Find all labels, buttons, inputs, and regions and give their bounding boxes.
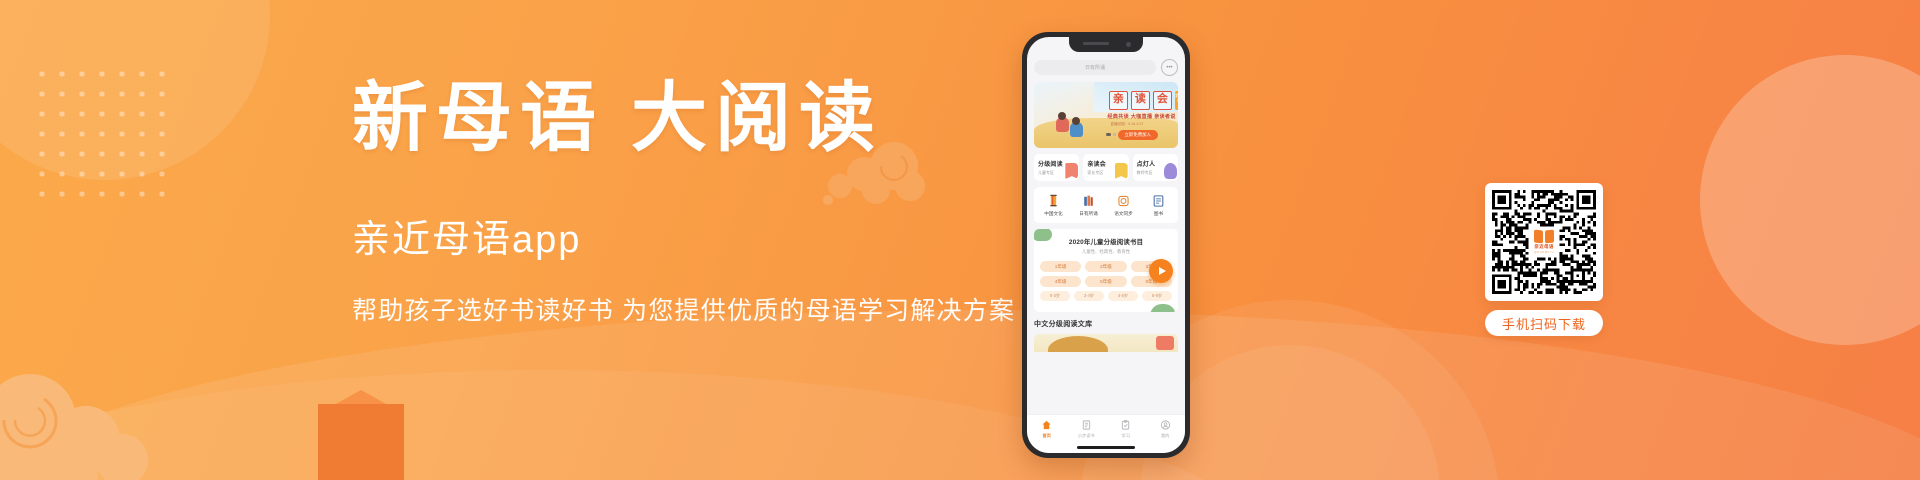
page-title: 新母语 大阅读 <box>352 80 1032 160</box>
banner-tagline: 帮助孩子选好书读好书 为您提供优质的母语学习解决方案 <box>352 291 1032 327</box>
play-icon[interactable] <box>1149 259 1173 283</box>
decorative-dot-grid <box>30 62 170 202</box>
decorative-circle-top-right <box>1700 55 1920 345</box>
quick-entry-label: 图书 <box>1154 211 1163 217</box>
quick-entry-label: 中国文化 <box>1044 211 1062 217</box>
leaf-decoration-icon <box>1034 229 1052 241</box>
tab-home[interactable]: 首页 <box>1027 419 1067 439</box>
booklist-section: 2020年儿童分级阅读书目 儿童性、经典性、教育性 1年级 2年级 3年级 4年… <box>1034 229 1178 312</box>
category-card-graded-reading[interactable]: 分级阅读 儿童专区 <box>1034 154 1079 181</box>
hero-char-1: 亲 <box>1109 91 1128 110</box>
qr-code: 亲近母语 QIN JIN MU YU <box>1492 190 1596 294</box>
hero-char-2: 读 <box>1131 91 1150 110</box>
qr-center-logo: 亲近母语 QIN JIN MU YU <box>1529 227 1559 257</box>
quick-entry-label: 语文同步 <box>1114 211 1132 217</box>
app-search-row: 日有所诵 ••• <box>1034 59 1178 76</box>
booklist-subtitle: 儿童性、经典性、教育性 <box>1040 249 1172 255</box>
quick-entry-daily-recitation[interactable]: 日有所诵 <box>1071 194 1106 217</box>
quick-entry-chinese-culture[interactable]: 中国文化 <box>1036 194 1071 217</box>
qr-logo-name: 亲近母语 <box>1534 244 1554 250</box>
tab-label: 我的 <box>1161 433 1169 439</box>
hero-child-red-icon <box>1056 117 1069 132</box>
category-card-lamplighter[interactable]: 点灯人 教师专区 <box>1133 154 1178 181</box>
decorative-book-box <box>318 404 404 480</box>
grade-tag[interactable]: 5年级 <box>1085 276 1126 287</box>
qr-code-container: 亲近母语 QIN JIN MU YU <box>1485 183 1603 301</box>
phone-screen: 日有所诵 ••• 亲 读 会 第三季 经典共读 大咖直播 亲读者说 直 <box>1027 37 1185 453</box>
qr-logo-pinyin: QIN JIN MU YU <box>1534 251 1553 254</box>
study-icon <box>1120 419 1131 431</box>
decorative-circle-top-left <box>0 0 270 180</box>
books-icon <box>1082 194 1095 208</box>
home-icon <box>1041 419 1052 431</box>
hero-season-tag: 第三季 <box>1175 91 1178 110</box>
decorative-hill <box>0 310 1920 480</box>
tab-reading[interactable]: 小步读书 <box>1067 419 1107 439</box>
hero-char-3: 会 <box>1153 91 1172 110</box>
lamp-purple-icon <box>1164 163 1177 179</box>
book-logo-icon <box>1534 230 1554 243</box>
age-tag[interactable]: 4-5岁 <box>1108 291 1138 301</box>
hero-banner[interactable]: 亲 读 会 第三季 经典共读 大咖直播 亲读者说 直播回程：9.16-9.27 … <box>1034 82 1178 148</box>
book-icon <box>1152 194 1165 208</box>
bookmark-red-icon <box>1065 163 1078 179</box>
search-input[interactable]: 日有所诵 <box>1034 60 1156 75</box>
hero-child-blue-icon <box>1070 122 1083 137</box>
category-cards: 分级阅读 儿童专区 亲读会 家长专区 点灯人 教师专区 <box>1034 154 1178 181</box>
category-card-reading-club[interactable]: 亲读会 家长专区 <box>1083 154 1128 181</box>
booklist-title: 2020年儿童分级阅读书目 <box>1040 237 1172 246</box>
age-tag[interactable]: 5-6岁 <box>1142 291 1172 301</box>
library-book-cover <box>1156 336 1174 350</box>
quick-entry-books[interactable]: 图书 <box>1141 194 1176 217</box>
profile-icon <box>1160 419 1171 431</box>
cloud-swirl-icon <box>0 348 172 480</box>
decorative-book-roof <box>318 390 404 414</box>
home-indicator <box>1077 446 1135 449</box>
quick-entry-label: 日有所诵 <box>1079 211 1097 217</box>
bookmark-yellow-icon <box>1115 163 1128 179</box>
hero-title: 亲 读 会 第三季 <box>1109 91 1178 110</box>
tab-label: 学习 <box>1122 433 1130 439</box>
quick-entry-row: 中国文化 日有所诵 <box>1034 187 1178 223</box>
grade-tag[interactable]: 1年级 <box>1040 261 1081 272</box>
hero-schedule: 直播回程：9.16-9.27 <box>1110 122 1143 127</box>
reading-icon <box>1081 419 1092 431</box>
tab-study[interactable]: 学习 <box>1106 419 1146 439</box>
age-tag[interactable]: 0-3岁 <box>1040 291 1070 301</box>
library-strip[interactable] <box>1034 334 1178 352</box>
age-tag[interactable]: 3-4岁 <box>1074 291 1104 301</box>
tab-label: 小步读书 <box>1078 433 1095 439</box>
message-icon[interactable]: ••• <box>1161 59 1178 76</box>
phone-mockup: 日有所诵 ••• 亲 读 会 第三季 经典共读 大咖直播 亲读者说 直 <box>1022 32 1190 458</box>
hero-join-button[interactable]: 立即免费加入 <box>1118 130 1158 140</box>
banner-copy: 新母语 大阅读 亲近母语app 帮助孩子选好书读好书 为您提供优质的母语学习解决… <box>352 80 1032 327</box>
quick-entry-curriculum-sync[interactable]: 语文同步 <box>1106 194 1141 217</box>
tab-label: 首页 <box>1043 433 1051 439</box>
library-arc <box>1048 336 1108 352</box>
lantern-icon <box>1047 194 1060 208</box>
promo-banner: 新母语 大阅读 亲近母语app 帮助孩子选好书读好书 为您提供优质的母语学习解决… <box>0 0 1920 480</box>
hero-subtitle: 经典共读 大咖直播 亲读者说 <box>1107 113 1175 120</box>
grade-tag[interactable]: 2年级 <box>1085 261 1126 272</box>
tab-profile[interactable]: 我的 <box>1146 419 1186 439</box>
phone-notch <box>1069 37 1143 52</box>
app-name: 亲近母语app <box>352 208 1032 263</box>
download-button[interactable]: 手机扫码下载 <box>1485 310 1603 336</box>
grade-tag[interactable]: 4年级 <box>1040 276 1081 287</box>
leaf-decoration-bottom-icon <box>1150 304 1176 312</box>
sync-icon <box>1117 194 1130 208</box>
library-title: 中文分级阅读文库 <box>1034 319 1178 329</box>
